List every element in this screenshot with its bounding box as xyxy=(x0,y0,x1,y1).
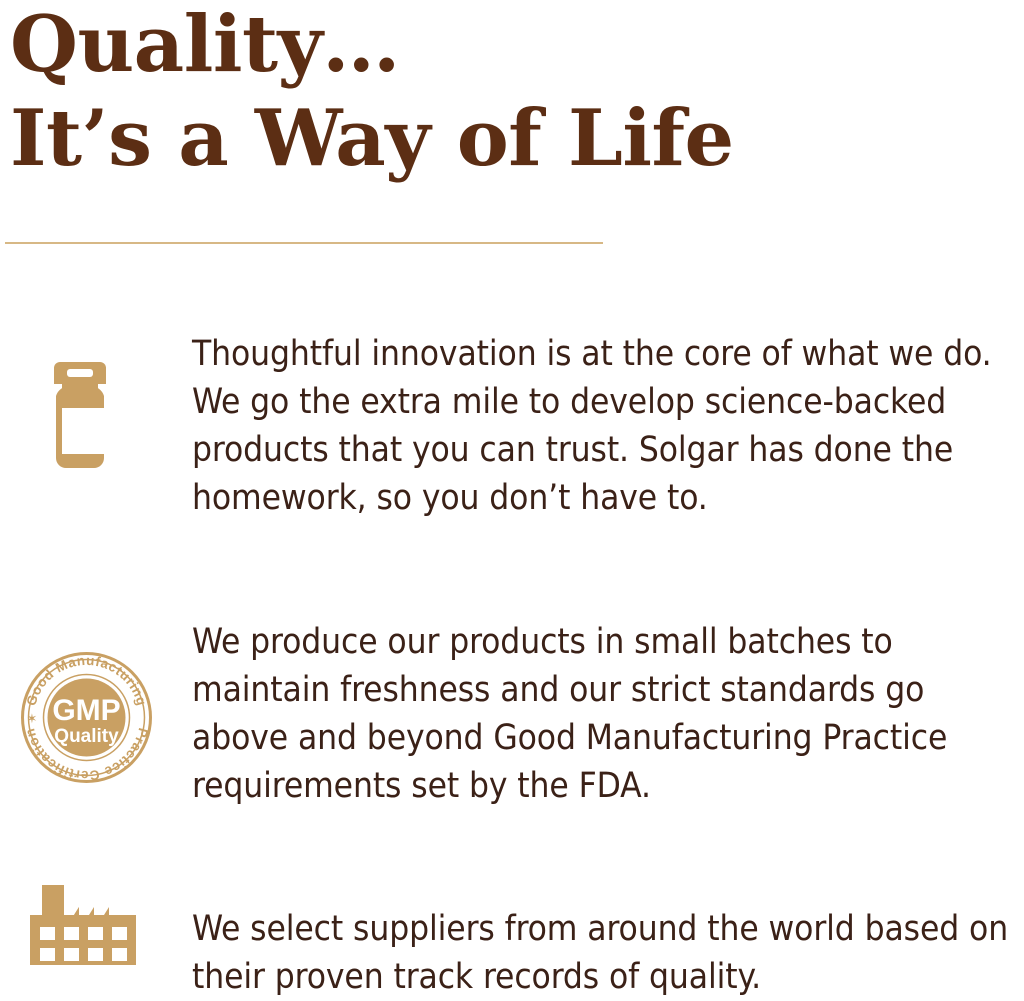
page-title-line-1: Quality… xyxy=(8,2,1008,88)
heading-divider xyxy=(5,242,603,244)
feature-row-suppliers-text: We select suppliers from around the worl… xyxy=(192,905,1024,1001)
feature-row-innovation-text: Thoughtful innovation is at the core of … xyxy=(192,330,1024,522)
gmp-quality-seal-icon: Good Manufacturing Practice Certificatio… xyxy=(14,645,159,795)
page-title-line-2: It’s a Way of Life xyxy=(8,96,1008,182)
supplement-bottle-icon xyxy=(42,360,118,477)
factory-icon xyxy=(30,885,136,970)
seal-center-gmp: GMP xyxy=(52,694,120,727)
seal-center-quality: Quality xyxy=(54,726,119,747)
feature-row-gmp-text: We produce our products in small batches… xyxy=(192,618,1024,810)
page-heading: Quality… It’s a Way of Life xyxy=(8,2,1008,182)
seal-star-icon: ✶ xyxy=(27,711,38,726)
feature-paragraph: Thoughtful innovation is at the core of … xyxy=(192,330,1024,522)
feature-paragraph: We produce our products in small batches… xyxy=(192,618,1024,810)
feature-paragraph: We select suppliers from around the worl… xyxy=(192,905,1024,1001)
